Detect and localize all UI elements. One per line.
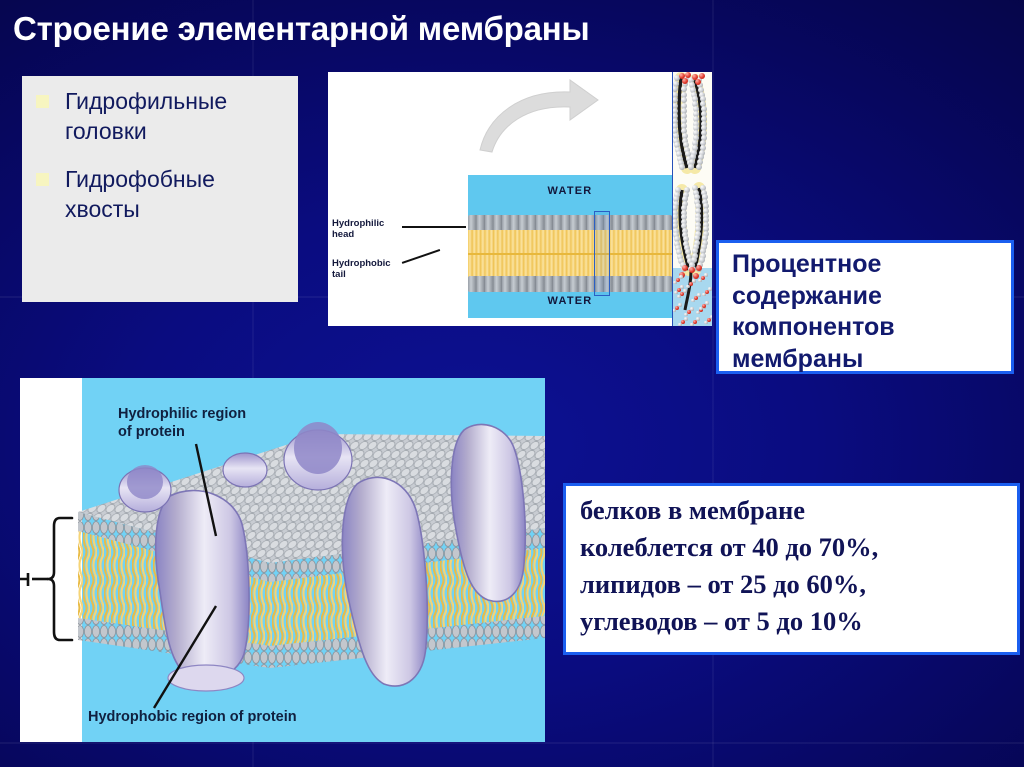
lipid-bilayer-diagram: Hydrophilichead Hydrophobictail WATER WA… — [328, 72, 712, 326]
square-bullet-icon — [36, 95, 49, 108]
hydrophobic-tail-label: Hydrophobictail — [332, 258, 391, 280]
list-item: Гидрофобные хвосты — [36, 164, 286, 224]
composition-values-box: белков в мембране колеблется от 40 до 70… — [563, 483, 1020, 655]
molecular-model-panel — [672, 72, 712, 326]
composition-values-text: белков в мембране колеблется от 40 до 70… — [580, 492, 1010, 640]
composition-line: липидов – от 25 до 60%, — [580, 566, 1010, 603]
page-title: Строение элементарной мембраны — [13, 8, 773, 50]
membrane-3d-diagram: Hydrophilic regionof protein Hydrophobic… — [20, 378, 545, 742]
slide-canvas: Строение элементарной мембраны Гидрофиль… — [0, 0, 1024, 767]
bilayer-midline — [468, 253, 672, 255]
list-item: Гидрофильные головки — [36, 86, 286, 146]
hydrophilic-region-caption: Hydrophilic regionof protein — [118, 405, 246, 441]
phospholipid-head-row-upper — [468, 215, 672, 231]
phospholipid-head-row-lower — [468, 276, 672, 292]
water-label-bottom: WATER — [468, 295, 672, 307]
zoom-arrow-icon — [474, 76, 604, 154]
square-bullet-icon — [36, 173, 49, 186]
percent-title-text: Процентное содержание компонентов мембра… — [732, 249, 1010, 375]
list-item-label: Гидрофобные хвосты — [65, 164, 286, 224]
percent-title-box: Процентное содержание компонентов мембра… — [716, 240, 1014, 374]
list-item-label: Гидрофильные головки — [65, 86, 286, 146]
bullet-panel: Гидрофильные головки Гидрофобные хвосты — [22, 76, 298, 302]
composition-line: белков в мембране — [580, 492, 1010, 529]
composition-line: колеблется от 40 до 70%, — [580, 529, 1010, 566]
water-label-top: WATER — [468, 185, 672, 197]
hydrophilic-head-label: Hydrophilichead — [332, 218, 384, 240]
zoom-highlight-box — [594, 211, 610, 296]
leader-line — [402, 249, 440, 263]
composition-line: углеводов – от 5 до 10% — [580, 603, 1010, 640]
hydrophobic-region-caption: Hydrophobic region of protein — [88, 708, 297, 726]
bilayer-water-box: WATER WATER — [468, 175, 672, 318]
leader-line — [402, 226, 466, 228]
membrane-illustration — [20, 378, 545, 742]
